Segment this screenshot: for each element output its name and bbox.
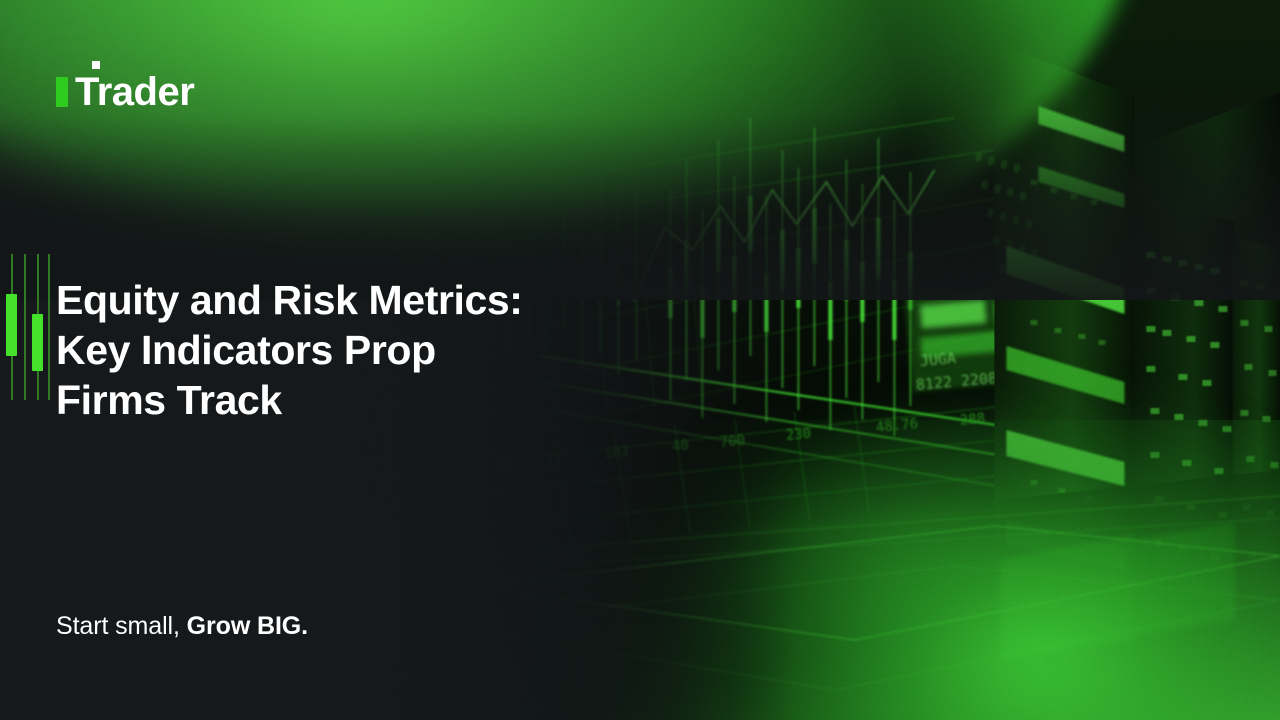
logo-wordmark-text: Trader bbox=[75, 70, 194, 114]
promo-banner: 15 27 102 40 700 230 48.76 288 3.408 36 … bbox=[0, 0, 1280, 720]
logo-i-bar-icon bbox=[56, 77, 68, 107]
candle-body-2 bbox=[32, 314, 43, 371]
candle-body-1 bbox=[6, 294, 17, 356]
tagline-normal: Start small, bbox=[56, 612, 187, 640]
brand-tagline: Start small, Grow BIG. bbox=[56, 612, 308, 641]
logo-itrader[interactable]: Trader bbox=[56, 64, 194, 108]
tagline-bold: Grow BIG. bbox=[187, 612, 308, 640]
page-title: Equity and Risk Metrics: Key Indicators … bbox=[56, 275, 716, 425]
headline-line-2: Key Indicators Prop bbox=[56, 325, 716, 375]
candlestick-decoration bbox=[4, 254, 52, 400]
logo-i-dot-icon bbox=[92, 61, 100, 69]
headline-line-3: Firms Track bbox=[56, 375, 716, 425]
logo-wordmark: Trader bbox=[75, 76, 194, 108]
banner-content: Trader Equity and Risk Metrics: Key Indi… bbox=[0, 0, 1280, 720]
headline-line-1: Equity and Risk Metrics: bbox=[56, 275, 716, 325]
candle-wick-2 bbox=[24, 254, 26, 400]
candle-wick-4 bbox=[48, 254, 50, 400]
